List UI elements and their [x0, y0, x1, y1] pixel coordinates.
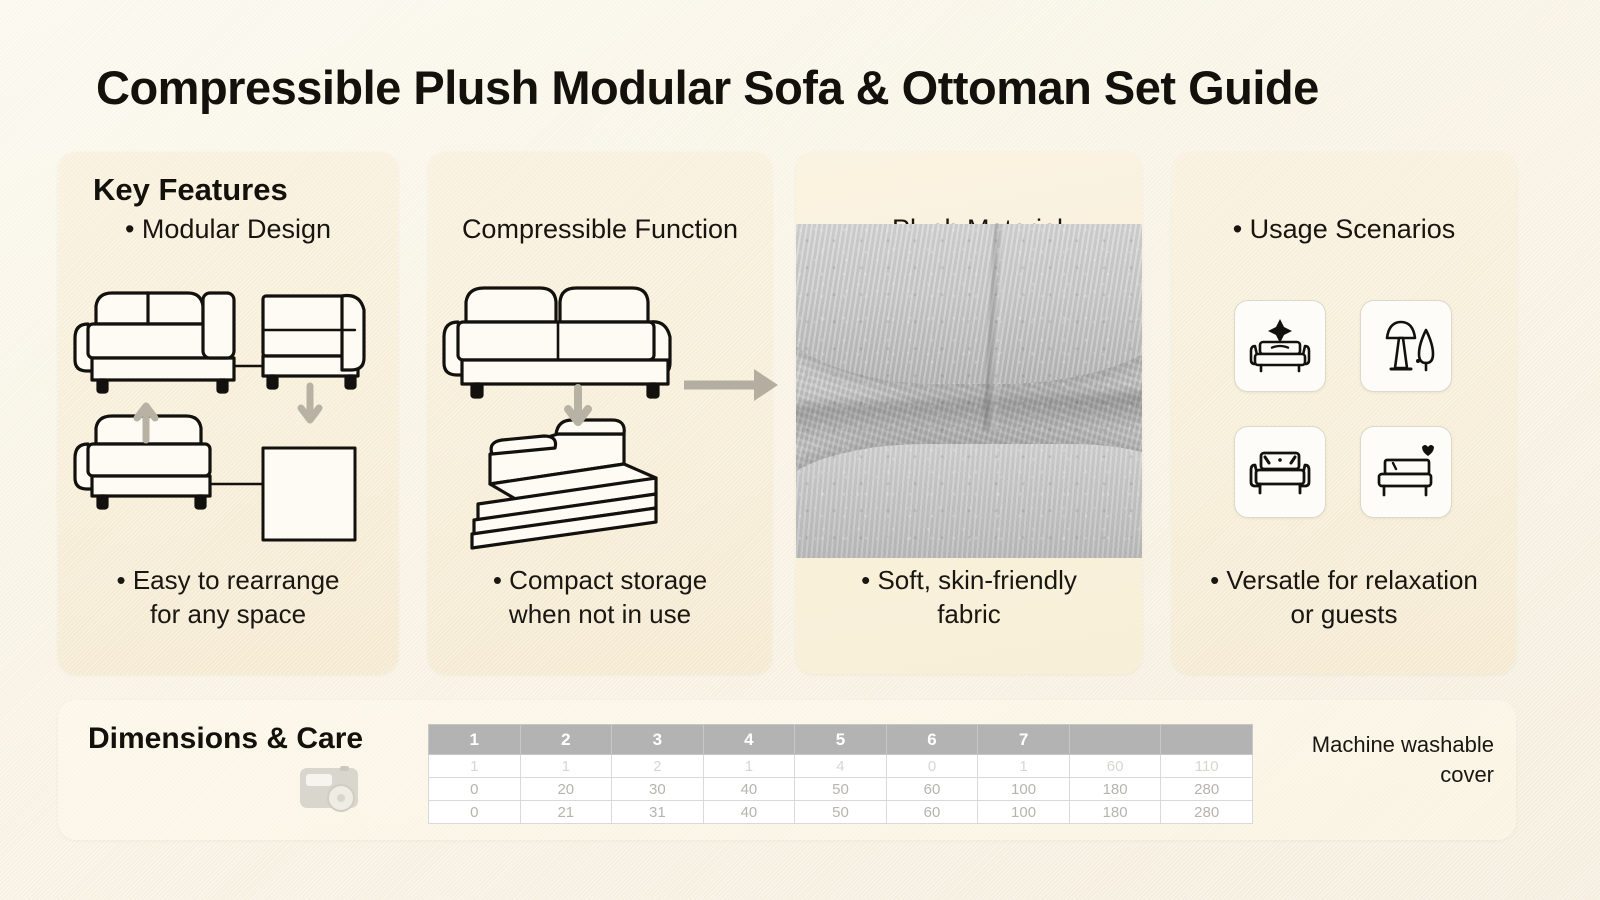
sofa-outline-wide	[444, 288, 670, 397]
table-header-cell-3: 3	[612, 725, 704, 755]
table-cell: 50	[795, 778, 887, 801]
arrow-down-icon	[301, 386, 319, 420]
table-cell: 1	[703, 755, 795, 778]
panel-1-caption: • Easy to rearrange for any space	[72, 563, 384, 632]
care-note-line1: Machine washable	[1312, 732, 1494, 757]
table-header-cell-2: 2	[520, 725, 612, 755]
ottoman-square-outline	[263, 448, 355, 540]
washing-machine-icon	[296, 762, 366, 820]
table-cell: 50	[795, 801, 887, 824]
panel-2-caption: • Compact storage when not in use	[442, 563, 758, 632]
table-cell: 0	[886, 755, 978, 778]
panel-key-features: Key Features • Modular Design	[58, 152, 398, 674]
panel-usage-scenarios: • Usage Scenarios	[1172, 152, 1516, 674]
table-header-cell-4: 4	[703, 725, 795, 755]
scenario-tile-guests[interactable]	[1360, 426, 1452, 518]
scenario-icon-grid	[1234, 300, 1458, 518]
table-cell: 280	[1161, 778, 1253, 801]
table-cell: 100	[978, 778, 1070, 801]
table-header-cell-5: 5	[795, 725, 887, 755]
panel-2-caption-line1: • Compact storage	[493, 565, 707, 595]
modular-design-diagram	[58, 262, 398, 542]
folded-stack-outline	[472, 420, 656, 548]
table-cell: 60	[1069, 755, 1161, 778]
table-header-cell-9	[1161, 725, 1253, 755]
table-cell: 110	[1161, 755, 1253, 778]
table-cell: 60	[886, 778, 978, 801]
panel-3-caption-line2: fabric	[810, 597, 1128, 632]
panel-1-caption-line2: for any space	[72, 597, 384, 632]
table-cell: 0	[429, 778, 521, 801]
panel-compressible-function: Compressible Function	[428, 152, 772, 674]
panel-2-caption-line2: when not in use	[442, 597, 758, 632]
scenario-tile-seating[interactable]	[1234, 426, 1326, 518]
care-note-line2: cover	[1440, 762, 1494, 787]
care-note: Machine washable cover	[1254, 730, 1494, 789]
table-cell: 280	[1161, 801, 1253, 824]
page-title: Compressible Plush Modular Sofa & Ottoma…	[96, 60, 1516, 115]
table-row: 02131405060100180280	[429, 801, 1253, 824]
table-header-cell-6: 6	[886, 725, 978, 755]
scenario-tile-ambience[interactable]	[1360, 300, 1452, 392]
table-cell: 0	[429, 801, 521, 824]
panel-1-bullet-heading: • Modular Design	[58, 214, 398, 245]
compressible-function-diagram	[428, 262, 772, 562]
dimensions-table: 1234567 11214016011002030405060100180280…	[428, 724, 1253, 824]
table-cell: 40	[703, 801, 795, 824]
arrow-right-icon	[676, 360, 786, 410]
panel-4-bullet-heading: • Usage Scenarios	[1172, 214, 1516, 245]
sofa-outline-top-left	[75, 293, 234, 392]
table-cell: 2	[612, 755, 704, 778]
panel-2-heading: Compressible Function	[428, 214, 772, 245]
table-cell: 30	[612, 778, 704, 801]
armchair-icon	[1247, 443, 1313, 501]
scenario-tile-relaxation[interactable]	[1234, 300, 1326, 392]
table-cell: 40	[703, 778, 795, 801]
table-cell: 4	[795, 755, 887, 778]
table-cell: 1	[520, 755, 612, 778]
sofa-sparkle-icon	[1247, 316, 1313, 376]
sofa-outline-top-right	[263, 296, 364, 388]
table-cell: 21	[520, 801, 612, 824]
plush-fabric-photo	[796, 224, 1142, 558]
arrow-down-icon-2	[568, 388, 588, 422]
table-header-cell-7: 7	[978, 725, 1070, 755]
panel-3-caption: • Soft, skin-friendly fabric	[810, 563, 1128, 632]
sofa-heart-icon	[1373, 442, 1439, 502]
panel-plush-material: • Plush Material • Soft, skin-friendly f…	[796, 152, 1142, 674]
table-cell: 60	[886, 801, 978, 824]
table-cell: 1	[429, 755, 521, 778]
table-cell: 180	[1069, 778, 1161, 801]
panel-3-caption-line1: • Soft, skin-friendly	[861, 565, 1077, 595]
table-cell: 100	[978, 801, 1070, 824]
table-cell: 20	[520, 778, 612, 801]
fabric-fuzz-overlay	[796, 224, 1142, 558]
table-row: 02030405060100180280	[429, 778, 1253, 801]
table-cell: 1	[978, 755, 1070, 778]
table-lamp-plant-icon	[1373, 316, 1439, 376]
panel-4-caption-line2: or guests	[1186, 597, 1502, 632]
panel-1-caption-line1: • Easy to rearrange	[117, 565, 340, 595]
table-header-cell-1: 1	[429, 725, 521, 755]
table-cell: 31	[612, 801, 704, 824]
dimensions-care-title: Dimensions & Care	[88, 722, 363, 756]
panel-1-heading: Key Features	[58, 172, 398, 208]
table-row: 112140160110	[429, 755, 1253, 778]
panel-dimensions-care: Dimensions & Care 1234567 11214016011002…	[58, 700, 1516, 840]
table-header-cell-8	[1069, 725, 1161, 755]
panel-4-caption: • Versatle for relaxation or guests	[1186, 563, 1502, 632]
table-cell: 180	[1069, 801, 1161, 824]
table-header-row: 1234567	[429, 725, 1253, 755]
panel-4-caption-line1: • Versatle for relaxation	[1210, 565, 1478, 595]
